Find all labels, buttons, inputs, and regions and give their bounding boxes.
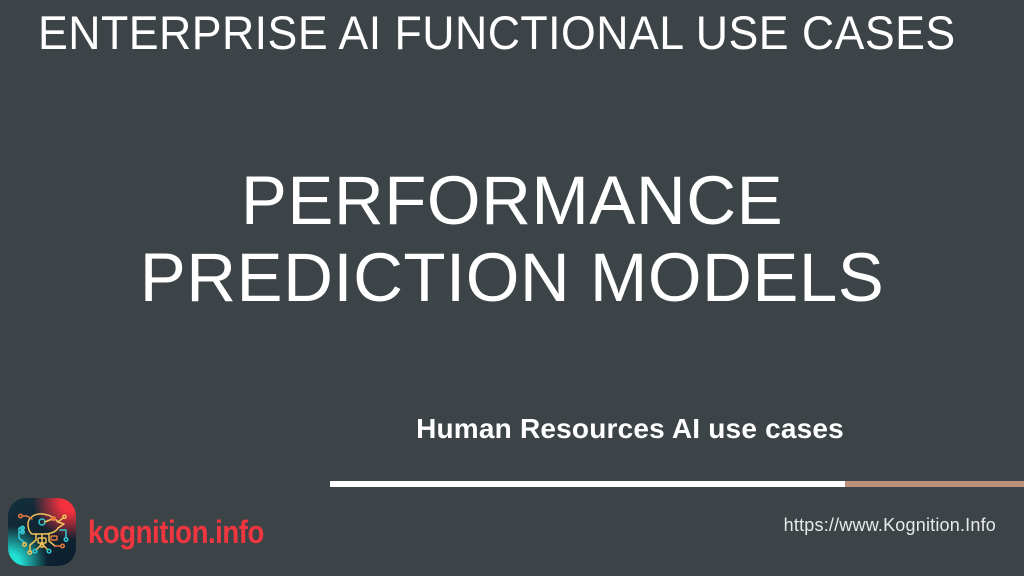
slide-title: PERFORMANCE PREDICTION MODELS — [0, 162, 1024, 317]
divider-light-segment — [330, 481, 845, 487]
circuit-brain-icon — [8, 498, 76, 566]
slide-canvas: ENTERPRISE AI FUNCTIONAL USE CASES PERFO… — [0, 0, 1024, 576]
slide-eyebrow-heading: ENTERPRISE AI FUNCTIONAL USE CASES — [38, 8, 950, 57]
page-title-line-2: PREDICTION MODELS — [0, 239, 1024, 316]
page-title-line-1: PERFORMANCE — [0, 162, 1024, 239]
footer-url[interactable]: https://www.Kognition.Info — [784, 515, 996, 536]
divider — [330, 481, 1024, 487]
slide-subtitle: Human Resources AI use cases — [330, 413, 930, 445]
brand-wordmark: kognition.info — [88, 514, 264, 551]
divider-accent-segment — [845, 481, 1024, 487]
brand-logo[interactable]: kognition.info — [8, 496, 293, 568]
